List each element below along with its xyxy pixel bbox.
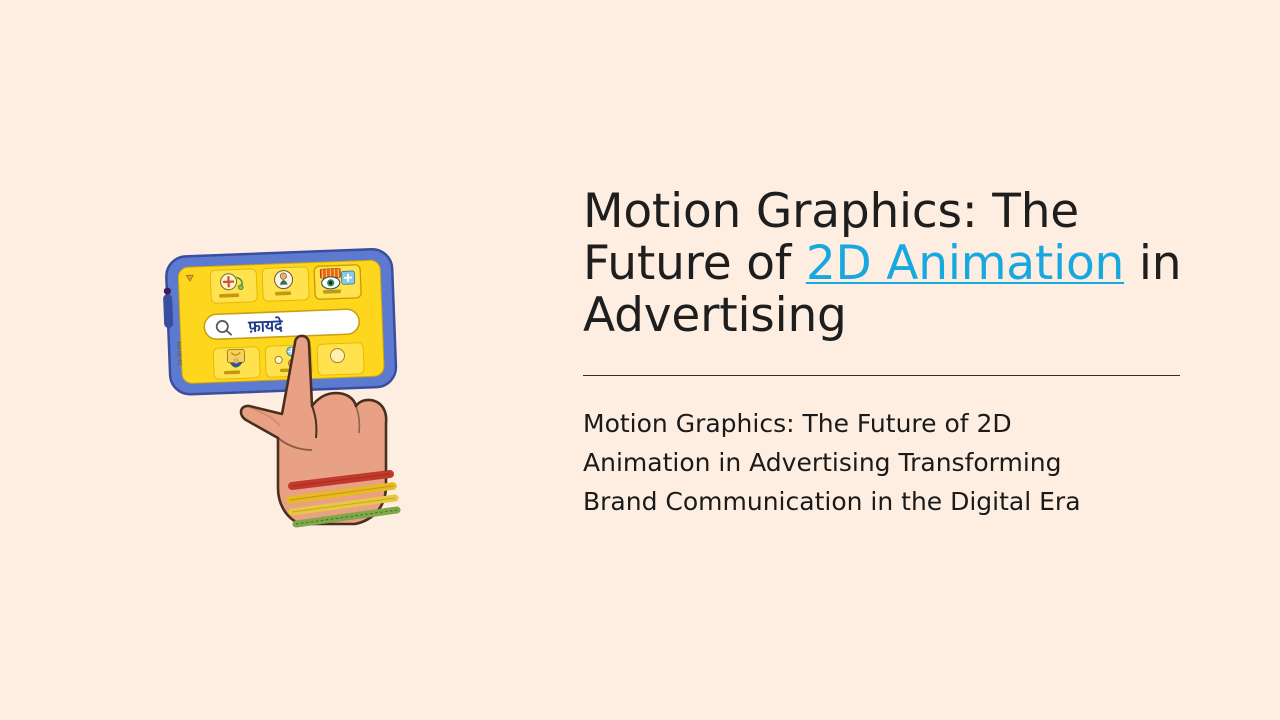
svg-text:फ़ायदे: फ़ायदे xyxy=(247,316,283,336)
phone-graphic: 12:30 PM xyxy=(162,248,397,395)
slide-body-text: Motion Graphics: The Future of 2D Animat… xyxy=(583,404,1128,521)
slide-canvas: 12:30 PM xyxy=(0,0,1280,720)
slide-text-column: Motion Graphics: The Future of 2D Animat… xyxy=(583,186,1203,342)
hand-pointing-at-smartphone-illustration: 12:30 PM xyxy=(150,238,420,528)
phone-search-bar: फ़ायदे xyxy=(204,309,360,340)
page-title: Motion Graphics: The Future of 2D Animat… xyxy=(583,186,1208,342)
svg-text:12:30 PM: 12:30 PM xyxy=(177,341,184,365)
title-divider xyxy=(583,375,1180,376)
app-tile-row-top xyxy=(210,265,361,304)
title-link-2d-animation[interactable]: 2D Animation xyxy=(806,236,1124,291)
